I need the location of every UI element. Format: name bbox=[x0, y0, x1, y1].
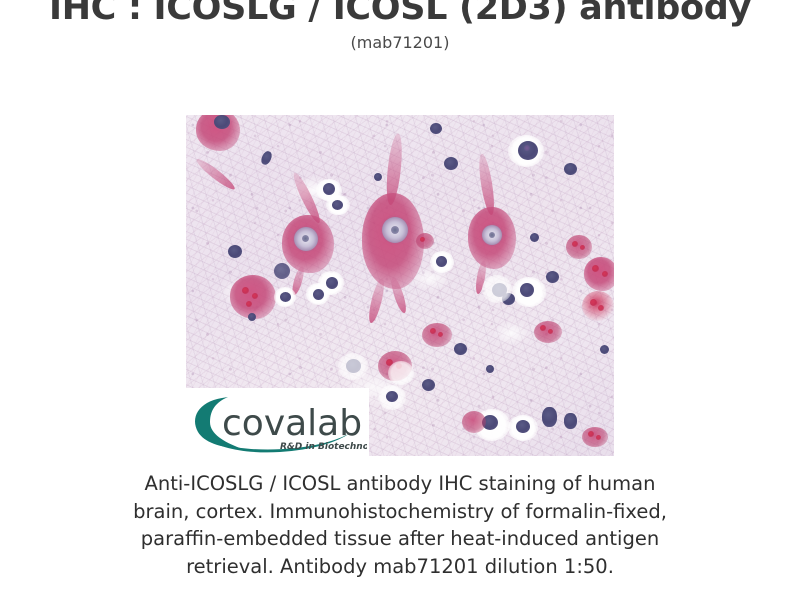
nucleolus bbox=[489, 232, 495, 238]
chromogen-granule bbox=[246, 301, 252, 307]
glial-nucleus bbox=[444, 157, 458, 170]
glial-nucleus bbox=[422, 379, 435, 391]
chromogen-granule bbox=[438, 332, 443, 337]
figure-page: IHC : ICOSLG / ICOSL (2D3) antibody (mab… bbox=[0, 0, 800, 600]
glial-nucleus bbox=[214, 115, 230, 129]
nucleolus bbox=[391, 226, 399, 234]
stained-cell bbox=[462, 411, 486, 433]
glial-nucleus bbox=[430, 123, 442, 134]
stained-cell bbox=[566, 235, 592, 259]
chromogen-granule bbox=[592, 265, 599, 272]
glial-nucleus bbox=[436, 256, 447, 267]
stained-cell bbox=[416, 233, 434, 249]
logo-wordmark: covalab bbox=[222, 403, 362, 444]
logo-tagline: R&D in Biotechnology bbox=[280, 442, 367, 452]
chromogen-granule bbox=[252, 293, 258, 299]
glial-nucleus bbox=[274, 263, 290, 279]
nucleolus bbox=[302, 235, 309, 242]
glial-nucleus bbox=[520, 283, 534, 297]
stained-cell bbox=[582, 427, 608, 447]
glial-nucleus bbox=[313, 289, 324, 300]
chromogen-granule bbox=[548, 329, 553, 334]
chromogen-granule bbox=[242, 287, 249, 294]
glial-nucleus bbox=[486, 365, 494, 373]
chromogen-granule bbox=[524, 145, 530, 151]
micrograph-canvas: covalab R&D in Biotechnology bbox=[186, 115, 614, 456]
chromogen-granule bbox=[598, 305, 604, 311]
chromogen-granule bbox=[590, 299, 597, 306]
glial-nucleus bbox=[564, 413, 577, 429]
glial-nucleus bbox=[600, 345, 609, 354]
glial-nucleus bbox=[374, 173, 382, 181]
chromogen-granule bbox=[430, 328, 436, 334]
stained-cell bbox=[422, 323, 452, 347]
catalog-number: (mab71201) bbox=[0, 33, 800, 53]
glial-nucleus bbox=[564, 163, 577, 175]
caption-line-4: retrieval. Antibody mab71201 dilution 1:… bbox=[60, 553, 740, 581]
glial-nucleus bbox=[323, 183, 335, 195]
glial-nucleus bbox=[332, 200, 343, 210]
caption-line-1: Anti-ICOSLG / ICOSL antibody IHC stainin… bbox=[60, 470, 740, 498]
caption-line-2: brain, cortex. Immunohistochemistry of f… bbox=[60, 498, 740, 526]
chromogen-granule bbox=[588, 431, 594, 437]
chromogen-granule bbox=[420, 237, 425, 242]
chromogen-granule bbox=[602, 271, 608, 277]
perinuclear-halo bbox=[388, 361, 414, 385]
perinuclear-halo bbox=[482, 275, 512, 303]
glial-nucleus bbox=[546, 271, 559, 283]
chromogen-granule bbox=[580, 245, 585, 250]
chromogen-granule bbox=[572, 241, 578, 247]
glial-nucleus bbox=[228, 245, 242, 258]
glial-nucleus bbox=[386, 391, 398, 402]
glial-nucleus bbox=[454, 343, 467, 355]
neuron-soma bbox=[584, 257, 614, 291]
glial-nucleus bbox=[248, 313, 256, 321]
perinuclear-halo bbox=[338, 353, 368, 380]
caption-line-3: paraffin-embedded tissue after heat-indu… bbox=[60, 525, 740, 553]
ihc-micrograph: covalab R&D in Biotechnology bbox=[186, 115, 614, 456]
glial-nucleus bbox=[542, 407, 557, 427]
chromogen-granule bbox=[540, 325, 546, 331]
figure-caption: Anti-ICOSLG / ICOSL antibody IHC stainin… bbox=[60, 470, 740, 580]
glial-nucleus bbox=[516, 420, 530, 433]
glial-nucleus bbox=[280, 292, 291, 302]
covalab-logo-graphic: covalab R&D in Biotechnology bbox=[188, 390, 367, 454]
page-title: IHC : ICOSLG / ICOSL (2D3) antibody bbox=[0, 0, 800, 31]
chromogen-granule bbox=[596, 435, 601, 440]
figure-title-block: IHC : ICOSLG / ICOSL (2D3) antibody (mab… bbox=[0, 0, 800, 53]
covalab-logo: covalab R&D in Biotechnology bbox=[186, 388, 369, 456]
glial-nucleus bbox=[530, 233, 539, 242]
